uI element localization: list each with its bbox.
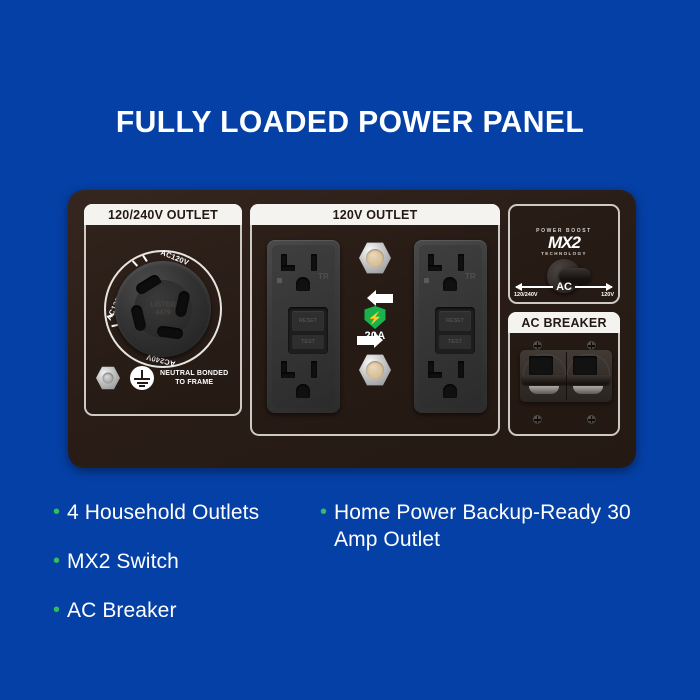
phillips-screw-icon <box>532 414 543 425</box>
section-120v-outlet: 120V OUTLET TR RESET TEST <box>250 204 500 436</box>
gfci-reset-button[interactable]: RESET <box>292 311 324 331</box>
page-title: FULLY LOADED POWER PANEL <box>11 104 690 140</box>
listed-line2: 4479 <box>151 309 176 317</box>
outlet-slot-ground <box>296 277 310 291</box>
list-item: • Home Power Backup-Ready 30 Amp Outlet <box>320 500 670 554</box>
breaker-divider <box>566 352 568 400</box>
outlet-slot-hot <box>458 361 464 378</box>
lightning-shield-icon: ⚡ <box>365 306 386 329</box>
ground-bar <box>134 378 150 380</box>
mx2-option-right: 120V <box>601 292 614 298</box>
outlet-slot-hot <box>311 254 317 271</box>
bullet-dot-icon: • <box>320 500 327 524</box>
section-mx2-switch: POWER BOOST MX2 TECHNOLOGY AC 120/240V 1… <box>508 204 620 304</box>
gfci-reset-button[interactable]: RESET <box>439 311 471 331</box>
outlet-slot-neutral-t <box>428 372 442 378</box>
section-label-120v: 120V OUTLET <box>250 204 500 225</box>
ground-bar <box>137 382 148 384</box>
breaker-block <box>520 350 612 402</box>
section-label-ac-breaker: AC BREAKER <box>508 312 620 333</box>
gfci-test-button[interactable]: TEST <box>439 335 471 349</box>
twist-lock-outlet[interactable]: AC120V AC120V AC240V LISTED 4479 <box>104 250 222 368</box>
list-item: • MX2 Switch <box>53 549 323 576</box>
outlet-slot-ground <box>296 384 310 398</box>
outlet-slot-ground <box>443 384 457 398</box>
hex-knob-bottom <box>359 354 391 386</box>
gfci-outlet-right[interactable]: TR RESET TEST <box>414 240 487 413</box>
neutral-note-line1: NEUTRAL BONDED <box>160 370 228 379</box>
ground-bar <box>139 385 145 387</box>
gfci-face: TR RESET TEST <box>419 245 482 408</box>
gfci-face: TR RESET TEST <box>272 245 335 408</box>
outlet-slot-hot <box>311 361 317 378</box>
section-label-120-240v: 120/240V OUTLET <box>84 204 242 225</box>
mx2-logo: MX2 <box>510 233 618 253</box>
gfci-test-button[interactable]: TEST <box>292 335 324 349</box>
outlet-slot-neutral-t <box>428 265 442 271</box>
earth-ground-icon <box>130 366 154 390</box>
feature-label: Home Power Backup-Ready 30 Amp Outlet <box>334 500 670 554</box>
gfci-outlet-left[interactable]: TR RESET TEST <box>267 240 340 413</box>
mx2-brand-bottom: TECHNOLOGY <box>510 251 618 256</box>
power-panel: 120/240V OUTLET AC120V AC120V AC240V LIS… <box>68 190 636 468</box>
feature-label: AC Breaker <box>67 598 177 625</box>
arrow-left-line <box>516 286 553 288</box>
hex-knob-top <box>359 242 391 274</box>
tamper-resistant-mark: TR <box>318 272 329 281</box>
gfci-button-block[interactable]: RESET TEST <box>288 307 328 354</box>
feature-label: 4 Household Outlets <box>67 500 259 527</box>
gfci-button-block[interactable]: RESET TEST <box>435 307 475 354</box>
breaker-toggle[interactable] <box>573 356 597 375</box>
listed-line1: LISTED <box>151 301 176 309</box>
indicator-dot <box>424 278 429 283</box>
twist-lock-listed-text: LISTED 4479 <box>151 301 176 316</box>
tamper-resistant-mark: TR <box>465 272 476 281</box>
mx2-mode-row: AC <box>516 282 612 292</box>
section-ac-breaker: AC BREAKER <box>508 312 620 436</box>
bullet-dot-icon: • <box>53 500 60 524</box>
neutral-note-line2: TO FRAME <box>160 379 228 388</box>
mx2-options-row: 120/240V 120V <box>514 292 614 298</box>
mx2-option-left: 120/240V <box>514 292 538 298</box>
twist-lock-body: LISTED 4479 <box>115 261 211 357</box>
breaker-lip <box>529 386 559 394</box>
list-item: • 4 Household Outlets <box>53 500 323 527</box>
bullet-dot-icon: • <box>53 598 60 622</box>
outlet-slot-ground <box>443 277 457 291</box>
bullet-dot-icon: • <box>53 549 60 573</box>
breaker-toggle[interactable] <box>529 356 553 375</box>
feature-column-two: • Home Power Backup-Ready 30 Amp Outlet <box>320 500 670 576</box>
arrow-right-line <box>575 286 612 288</box>
indicator-dot <box>277 278 282 283</box>
outlet-slot-neutral-t <box>281 372 295 378</box>
list-item: • AC Breaker <box>53 598 323 625</box>
breaker-lip <box>573 386 603 394</box>
neutral-bonded-note: NEUTRAL BONDED TO FRAME <box>160 370 228 388</box>
feature-label: MX2 Switch <box>67 549 179 576</box>
outlet-slot-hot <box>458 254 464 271</box>
outlet-slot-neutral-t <box>281 265 295 271</box>
feature-column-one: • 4 Household Outlets • MX2 Switch • AC … <box>53 500 323 647</box>
phillips-screw-icon <box>586 414 597 425</box>
